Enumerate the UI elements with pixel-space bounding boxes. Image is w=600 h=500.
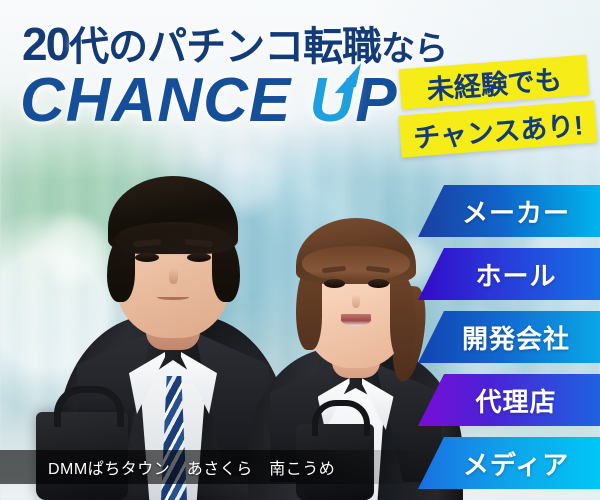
man-nose [169, 268, 178, 284]
woman-nose [352, 294, 360, 308]
man-mouth [157, 294, 189, 300]
category-label-media: メディア [449, 445, 569, 482]
woman-eye-left [324, 279, 345, 288]
category-label-agency: 代理店 [461, 382, 556, 419]
headline-middle: 代のパチンコ転職 [69, 25, 381, 69]
logo-chance-text: CHANCE [20, 66, 291, 135]
logo-p-letter: P [355, 66, 397, 135]
category-button-list: メーカー ホール 開発会社 代理店 メディア [418, 185, 600, 500]
chance-up-logo: CHANCE UP [20, 70, 398, 132]
headline-number: 20 [22, 18, 69, 70]
headline-tail: なら [381, 30, 447, 68]
category-button-agency[interactable]: 代理店 [418, 374, 600, 426]
woman-mouth [341, 314, 371, 326]
woman-fringe [302, 246, 410, 282]
logo-u-glyph: U [309, 66, 355, 135]
man-eye-right [187, 253, 211, 262]
credit-text: DMMぱちタウン あさくら 南こうめ [0, 455, 335, 479]
category-button-hall[interactable]: ホール [418, 248, 600, 300]
category-label-hall: ホール [461, 256, 556, 293]
category-label-maker: メーカー [448, 193, 570, 230]
category-button-media[interactable]: メディア [418, 437, 600, 489]
category-label-developer: 開発会社 [448, 319, 570, 356]
headline-text: 20代のパチンコ転職なら [22, 14, 447, 72]
woman-eye-right [368, 279, 389, 288]
category-button-developer[interactable]: 開発会社 [418, 311, 600, 363]
man-eye-left [135, 253, 159, 262]
advertisement-banner[interactable]: 20代のパチンコ転職なら CHANCE UP 未経験でも チャンスあり! メーカ… [0, 0, 600, 500]
logo-u-letter: U [309, 70, 355, 132]
category-button-maker[interactable]: メーカー [418, 185, 600, 237]
man-fringe [115, 222, 231, 256]
credit-bar: DMMぱちタウン あさくら 南こうめ [0, 450, 420, 484]
